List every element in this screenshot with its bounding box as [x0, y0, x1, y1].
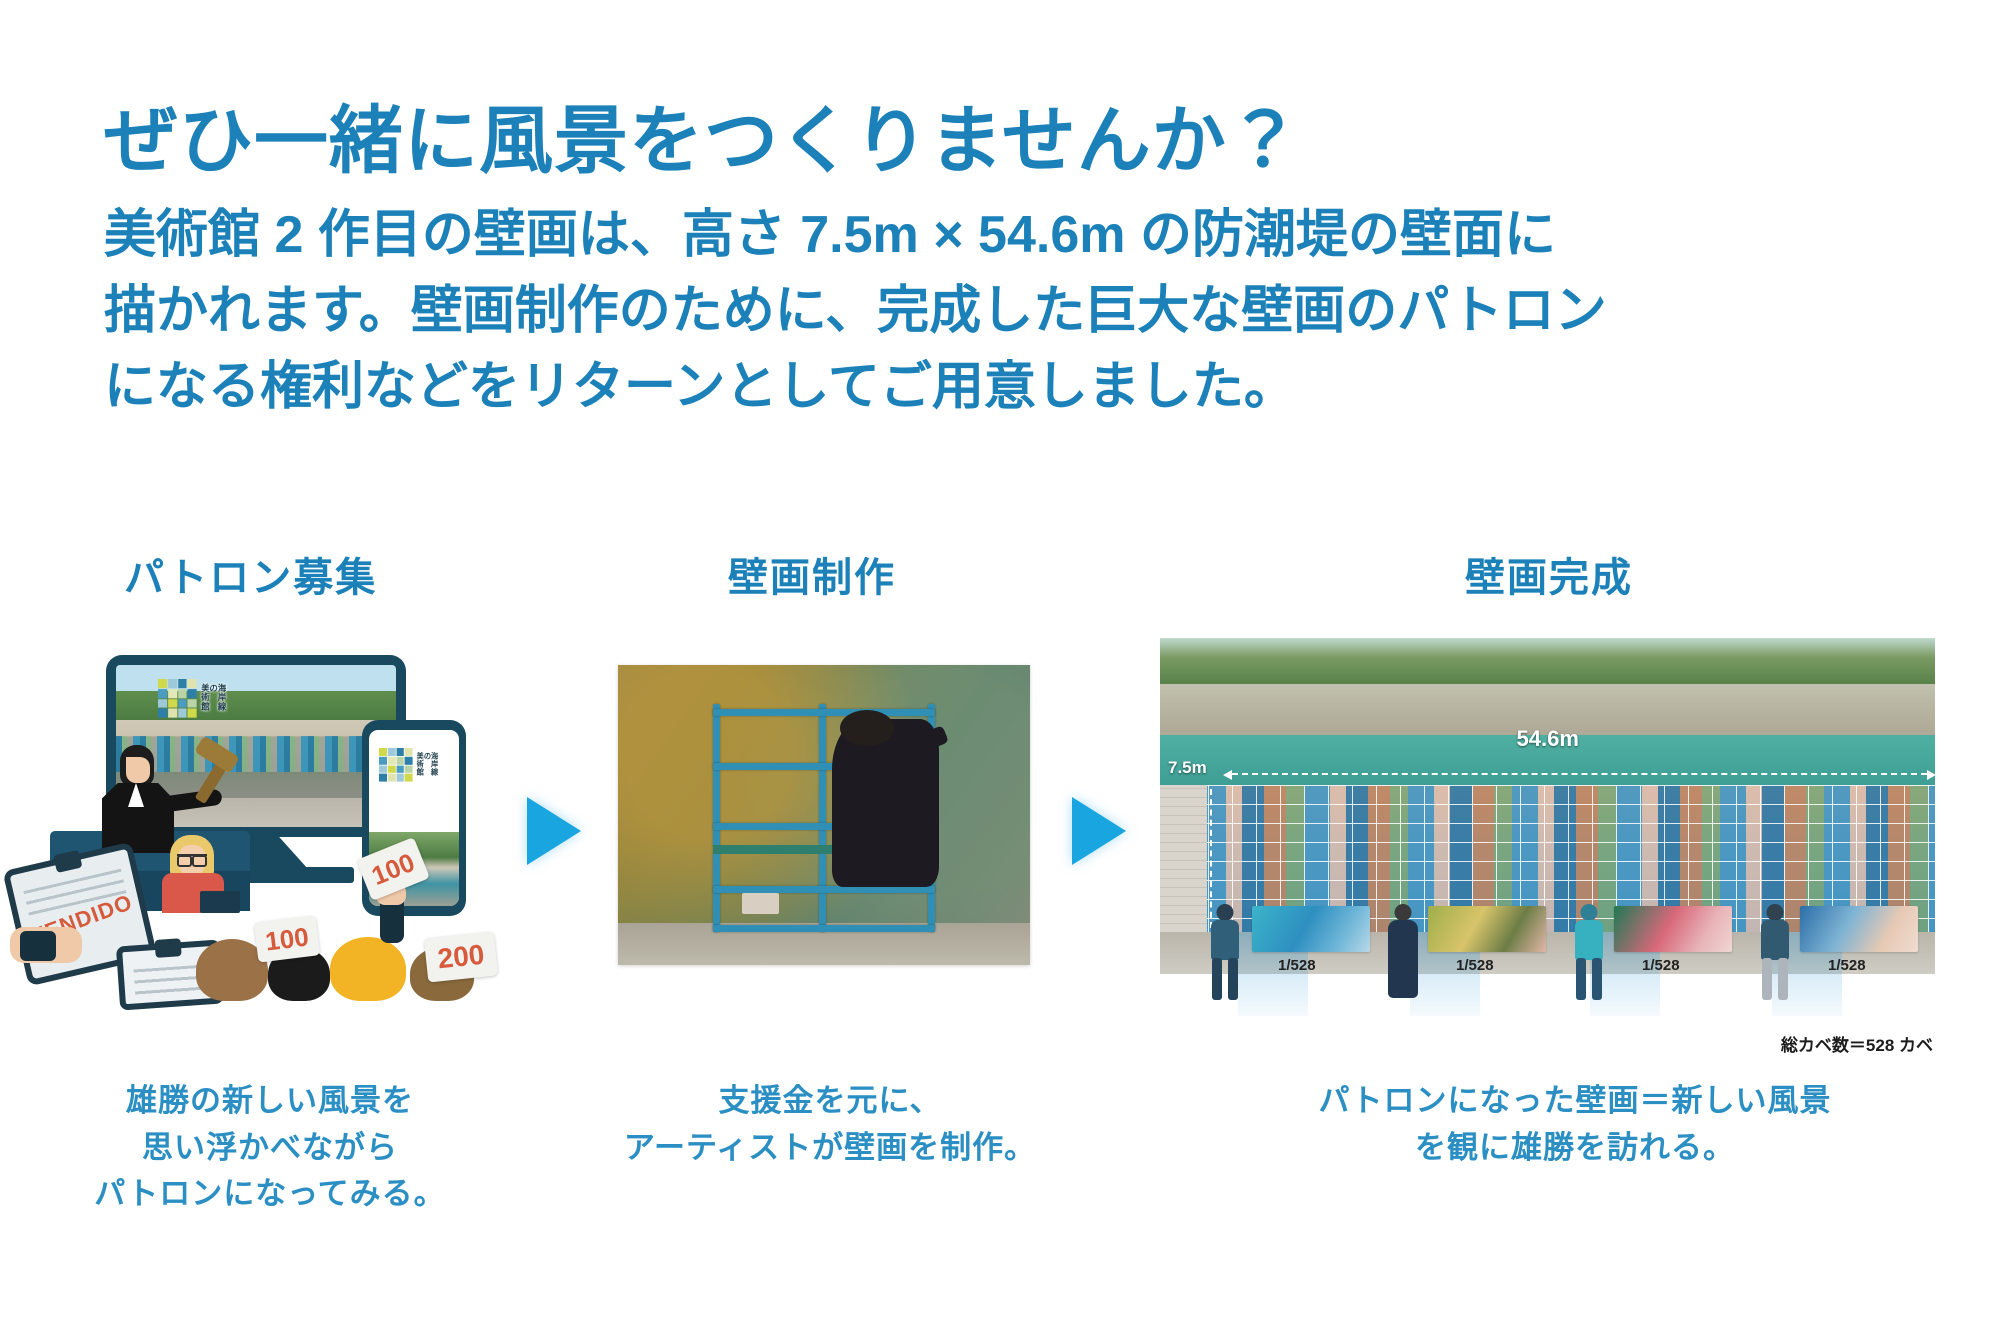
infographic-page: ぜひ一緒に風景をつくりませんか？ 美術館 2 作目の壁画は、高さ 7.5m × … [0, 0, 2001, 1334]
mural-swatch-3 [1614, 906, 1732, 952]
museum-logo: 美 の 海 術 岸 館 線 [158, 679, 226, 718]
height-dimension-label: 7.5m [1168, 758, 1207, 778]
arrow-right-icon-1 [527, 797, 581, 865]
auctioneer-face [126, 757, 150, 783]
caption-1-line-2: 思い浮かべながら [60, 1125, 480, 1172]
lede-paragraph: 美術館 2 作目の壁画は、高さ 7.5m × 54.6m の防潮堤の壁面に 描か… [104, 198, 1864, 426]
mural-swatch-2 [1428, 906, 1546, 952]
lede-line-1: 美術館 2 作目の壁画は、高さ 7.5m × 54.6m の防潮堤の壁面に [104, 198, 1864, 274]
phone-logo-char-9: 線 [431, 769, 438, 777]
fraction-label-3: 1/528 [1642, 957, 1680, 974]
caption-step-2: 支援金を元に、 アーティストが壁画を制作。 [600, 1078, 1060, 1171]
width-dimension-line [1232, 773, 1927, 775]
visitor-3-torso [1575, 920, 1603, 960]
phone-logo-char-8 [424, 769, 431, 777]
phone-logo-char-7: 館 [417, 769, 424, 777]
artist-head [840, 710, 894, 746]
composite-completed-mural: 7.5m 54.6m 1/528 1/528 1/528 [1160, 638, 1935, 1058]
visitor-4-torso [1761, 920, 1789, 960]
clipboard2-clip-icon [155, 938, 182, 958]
caption-2-line-2: アーティストが壁画を制作。 [600, 1125, 1060, 1172]
visitor-1-torso [1211, 920, 1239, 960]
paint-bucket [742, 893, 779, 914]
bid-paddle-3: 200 [424, 931, 498, 982]
logo-char-5 [210, 694, 218, 703]
glasses-icon [177, 854, 207, 860]
crowd-head-3 [330, 937, 406, 1001]
caption-2-line-1: 支援金を元に、 [600, 1078, 1060, 1125]
sleeve-cuff [20, 931, 56, 961]
visitor-figure-1 [1208, 904, 1242, 1000]
phone-logo-squares-icon [379, 748, 413, 782]
visitor-3-head [1581, 904, 1598, 921]
visitor-3-legs [1576, 958, 1602, 1000]
logo-squares-icon [158, 679, 197, 718]
phone-logo-text: 美 の 海 術 岸 館 線 [417, 753, 439, 777]
fraction-label-4: 1/528 [1828, 957, 1866, 974]
caption-1-line-3: パトロンになってみる。 [60, 1171, 480, 1218]
fraction-label-1: 1/528 [1278, 957, 1316, 974]
logo-char-2: の [210, 685, 218, 694]
laptop-icon [200, 891, 240, 913]
logo-char-7: 館 [201, 703, 209, 712]
caption-3-line-2: を観に雄勝を訪れる。 [1255, 1125, 1895, 1172]
caption-step-1: 雄勝の新しい風景を 思い浮かべながら パトロンになってみる。 [60, 1078, 480, 1218]
arrow-right-icon-2 [1072, 797, 1126, 865]
bare-seawall-section [1160, 785, 1207, 932]
phone-logo-char-2: の [424, 753, 431, 761]
fraction-label-2: 1/528 [1456, 957, 1494, 974]
mural-wall-photo [618, 665, 1030, 965]
phone-museum-logo: 美 の 海 術 岸 館 線 [379, 748, 438, 782]
visitor-figure-4 [1758, 904, 1792, 1000]
caption-step-3: パトロンになった壁画＝新しい風景 を観に雄勝を訪れる。 [1255, 1078, 1895, 1171]
total-walls-label: 総カベ数＝528 カベ [1781, 1031, 1933, 1056]
clerk-figure [160, 835, 228, 911]
illustration-patron-auction: 美 の 海 術 岸 館 線 [10, 635, 520, 1000]
lede-line-3: になる権利などをリターンとしてご用意しました。 [104, 350, 1864, 426]
logo-text: 美 の 海 術 岸 館 線 [201, 685, 226, 712]
visitor-2-dress [1388, 920, 1418, 998]
step-heading-patron: パトロン募集 [124, 545, 377, 603]
visitor-1-head [1217, 904, 1234, 921]
bid-paddle-2: 100 [254, 915, 320, 962]
width-dimension-label: 54.6m [1517, 726, 1579, 752]
visitor-figure-3 [1572, 904, 1606, 1000]
visitor-1-legs [1212, 958, 1238, 1000]
step-heading-production: 壁画制作 [728, 545, 896, 603]
logo-char-8 [210, 703, 218, 712]
caption-1-line-1: 雄勝の新しい風景を [60, 1078, 480, 1125]
page-title: ぜひ一緒に風景をつくりませんか？ [104, 102, 1302, 180]
mural-swatch-1 [1252, 906, 1370, 952]
lede-line-2: 描かれます。壁画制作のために、完成した巨大な壁画のパトロン [104, 274, 1864, 350]
phone-logo-char-5 [424, 761, 431, 769]
visitor-figure-2 [1386, 904, 1420, 1000]
visitor-4-head [1767, 904, 1784, 921]
step-heading-completion: 壁画完成 [1465, 545, 1633, 603]
logo-char-9: 線 [218, 703, 226, 712]
photo-mural-production [618, 665, 1030, 965]
mural-swatch-4 [1800, 906, 1918, 952]
visitor-4-legs [1762, 958, 1788, 1000]
visitor-2-head [1395, 904, 1412, 921]
caption-3-line-1: パトロンになった壁画＝新しい風景 [1255, 1078, 1895, 1125]
